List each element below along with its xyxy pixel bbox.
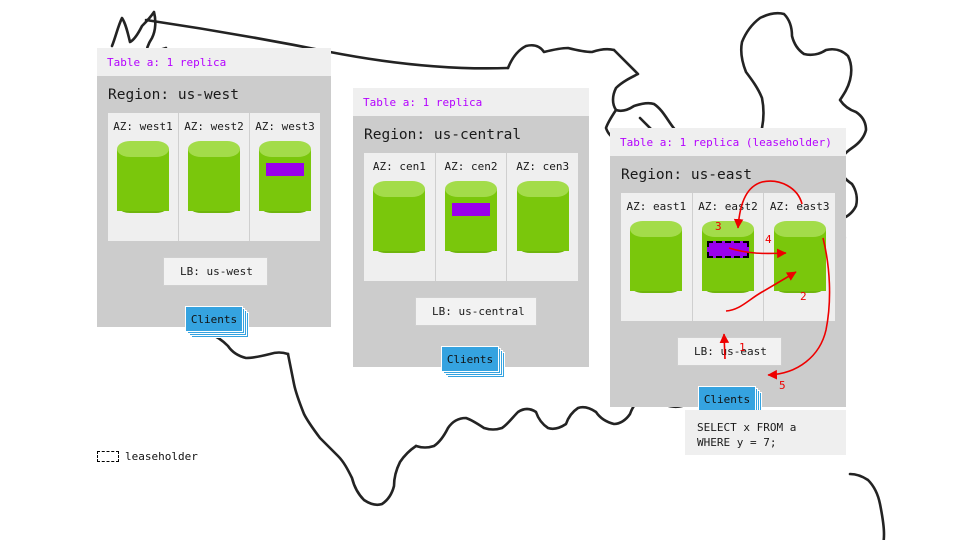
az-cell-east1[interactable]: AZ: east1 (621, 193, 693, 321)
cylinder-top (630, 221, 682, 237)
region-panel-us-central: Table a: 1 replica Region: us-central AZ… (353, 88, 589, 367)
region-title: Region: us-east (610, 156, 846, 193)
node-cylinder-cen3[interactable] (517, 181, 569, 259)
load-balancer-us-central[interactable]: LB: us-central (415, 297, 537, 326)
cylinder-top (188, 141, 240, 157)
region-title: Region: us-west (97, 76, 331, 113)
az-label: AZ: west1 (108, 120, 178, 133)
az-label: AZ: west2 (179, 120, 249, 133)
node-cylinder-east2[interactable] (702, 221, 754, 299)
clients-label: Clients (441, 346, 499, 372)
table-replica-label: Table a: 1 replica (107, 56, 321, 69)
cylinder-body (445, 189, 497, 251)
load-balancer-us-east[interactable]: LB: us-east (677, 337, 782, 366)
cylinder-body (373, 189, 425, 251)
az-row-us-west: AZ: west1 AZ: west2 (108, 113, 320, 241)
cylinder-body (630, 229, 682, 291)
node-cylinder-east1[interactable] (630, 221, 682, 299)
legend: leaseholder (97, 450, 198, 463)
cylinder-body (774, 229, 826, 291)
az-label: AZ: cen1 (364, 160, 435, 173)
cylinder-top (774, 221, 826, 237)
az-row-us-east: AZ: east1 AZ: east2 (621, 193, 835, 321)
diagram-canvas: Table a: 1 replica Region: us-west AZ: w… (0, 0, 960, 540)
az-label: AZ: east3 (764, 200, 835, 213)
node-cylinder-cen2[interactable] (445, 181, 497, 259)
az-row-us-central: AZ: cen1 AZ: cen2 (364, 153, 578, 281)
node-cylinder-west2[interactable] (188, 141, 240, 219)
region-panel-us-east: Table a: 1 replica (leaseholder) Region:… (610, 128, 846, 407)
az-cell-cen2[interactable]: AZ: cen2 (436, 153, 508, 281)
clients-label: Clients (185, 306, 243, 332)
clients-stack-us-west[interactable]: Clients (185, 306, 243, 332)
cylinder-top (445, 181, 497, 197)
cylinder-body (702, 229, 754, 291)
az-label: AZ: east1 (621, 200, 692, 213)
az-cell-west1[interactable]: AZ: west1 (108, 113, 179, 241)
node-cylinder-cen1[interactable] (373, 181, 425, 259)
cylinder-body (117, 149, 169, 211)
cylinder-top (702, 221, 754, 237)
az-label: AZ: cen2 (436, 160, 507, 173)
panel-body-us-west: Region: us-west AZ: west1 AZ: west2 (97, 76, 331, 327)
clients-stack-us-central[interactable]: Clients (441, 346, 499, 372)
sql-query-box: SELECT x FROM a WHERE y = 7; (685, 410, 846, 455)
panel-body-us-east: Region: us-east AZ: east1 AZ: east2 (610, 156, 846, 407)
table-replica-label: Table a: 1 replica (363, 96, 579, 109)
load-balancer-us-west[interactable]: LB: us-west (163, 257, 268, 286)
clients-stack-us-east[interactable]: Clients (698, 386, 756, 412)
az-cell-west2[interactable]: AZ: west2 (179, 113, 250, 241)
az-label: AZ: cen3 (507, 160, 578, 173)
leaseholder-swatch-icon (97, 451, 119, 462)
az-cell-west3[interactable]: AZ: west3 (250, 113, 320, 241)
az-cell-cen1[interactable]: AZ: cen1 (364, 153, 436, 281)
az-cell-east3[interactable]: AZ: east3 (764, 193, 835, 321)
leaseholder-marker (707, 241, 749, 258)
region-panel-us-west: Table a: 1 replica Region: us-west AZ: w… (97, 48, 331, 327)
replica-marker (452, 203, 490, 216)
panel-header-us-east: Table a: 1 replica (leaseholder) (610, 128, 846, 156)
cylinder-top (517, 181, 569, 197)
cylinder-body (517, 189, 569, 251)
cylinder-body (259, 149, 311, 211)
node-cylinder-west1[interactable] (117, 141, 169, 219)
replica-marker (266, 163, 304, 176)
az-label: AZ: east2 (693, 200, 764, 213)
clients-label: Clients (698, 386, 756, 412)
node-cylinder-east3[interactable] (774, 221, 826, 299)
panel-header-us-central: Table a: 1 replica (353, 88, 589, 116)
cylinder-top (373, 181, 425, 197)
cylinder-top (259, 141, 311, 157)
panel-header-us-west: Table a: 1 replica (97, 48, 331, 76)
table-replica-label: Table a: 1 replica (leaseholder) (620, 136, 836, 149)
az-cell-cen3[interactable]: AZ: cen3 (507, 153, 578, 281)
cylinder-top (117, 141, 169, 157)
node-cylinder-west3[interactable] (259, 141, 311, 219)
legend-label: leaseholder (125, 450, 198, 463)
region-title: Region: us-central (353, 116, 589, 153)
cylinder-body (188, 149, 240, 211)
az-label: AZ: west3 (250, 120, 320, 133)
az-cell-east2[interactable]: AZ: east2 (693, 193, 765, 321)
panel-body-us-central: Region: us-central AZ: cen1 AZ: cen2 (353, 116, 589, 367)
